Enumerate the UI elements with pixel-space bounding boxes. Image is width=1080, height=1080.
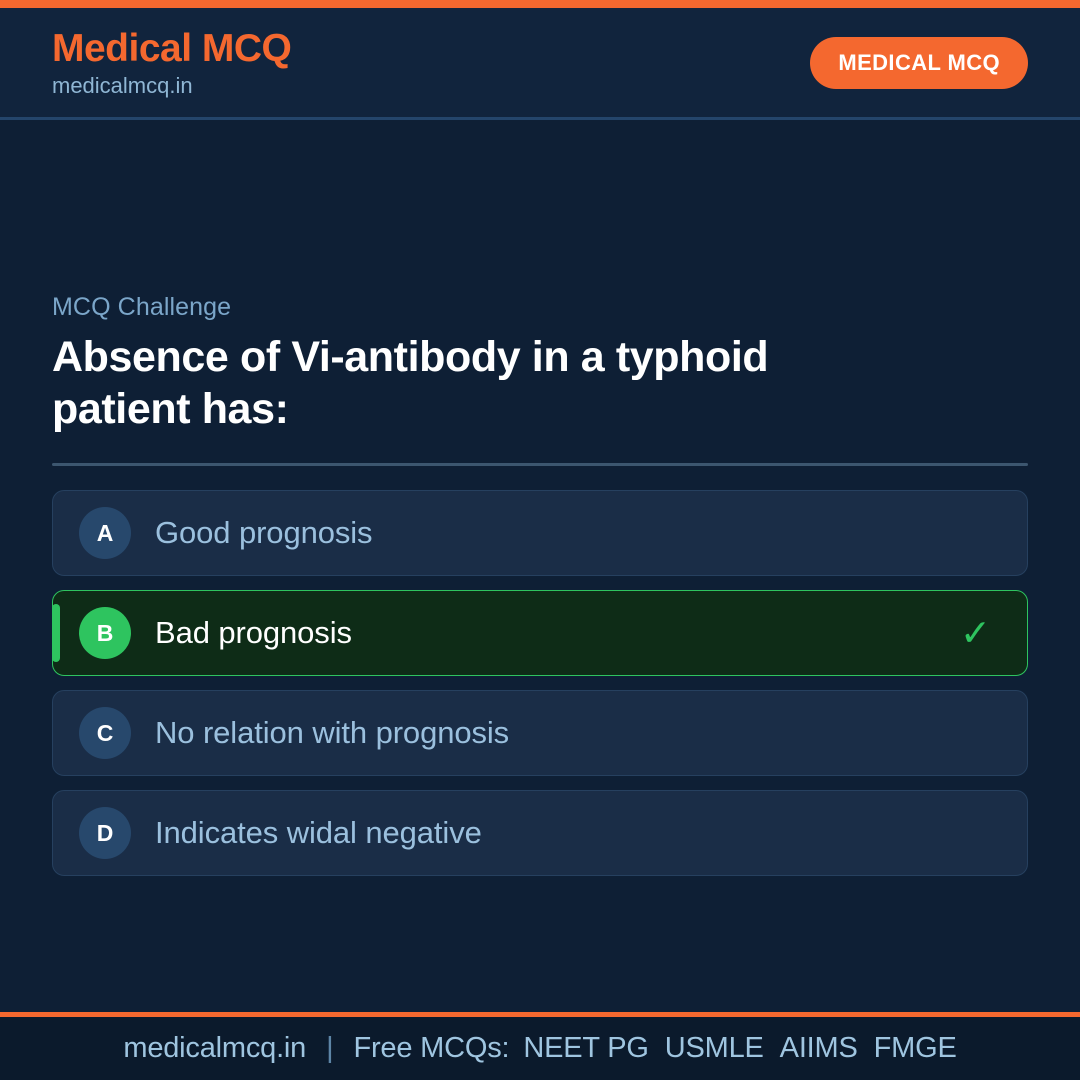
footer-site[interactable]: medicalmcq.in <box>123 1032 306 1065</box>
mcq-card: Medical MCQ medicalmcq.in MEDICAL MCQ MC… <box>0 0 1080 1080</box>
question-text: Absence of Vi-antibody in a typhoid pati… <box>52 332 882 435</box>
top-accent-rule <box>0 0 1080 8</box>
option-row-b[interactable]: B Bad prognosis ✓ <box>52 590 1028 676</box>
option-text-d: Indicates widal negative <box>155 815 482 851</box>
brand-block: Medical MCQ medicalmcq.in <box>52 29 291 97</box>
question-block: MCQ Challenge Absence of Vi-antibody in … <box>52 293 1028 876</box>
footer-separator: | <box>320 1032 339 1065</box>
option-row-c[interactable]: C No relation with prognosis <box>52 690 1028 776</box>
footer-exam-list: NEET PG USMLE AIIMS FMGE <box>523 1032 956 1065</box>
brand-subtitle: medicalmcq.in <box>52 75 291 97</box>
footer-bar: medicalmcq.in | Free MCQs: NEET PG USMLE… <box>0 1017 1080 1080</box>
option-row-a[interactable]: A Good prognosis <box>52 490 1028 576</box>
brand-title: Medical MCQ <box>52 29 291 68</box>
option-letter-c: C <box>79 707 131 759</box>
footer-exam-fmge[interactable]: FMGE <box>874 1032 957 1065</box>
option-row-d[interactable]: D Indicates widal negative <box>52 790 1028 876</box>
footer-free-label: Free MCQs: <box>353 1032 509 1065</box>
correct-check-icon: ✓ <box>960 615 991 652</box>
header-bar: Medical MCQ medicalmcq.in MEDICAL MCQ <box>0 8 1080 120</box>
main-content: MCQ Challenge Absence of Vi-antibody in … <box>0 120 1080 1012</box>
option-text-c: No relation with prognosis <box>155 715 509 751</box>
footer-exam-usmle[interactable]: USMLE <box>665 1032 764 1065</box>
correct-accent-bar <box>52 604 60 662</box>
option-letter-b: B <box>79 607 131 659</box>
options-list: A Good prognosis B Bad prognosis ✓ C No … <box>52 490 1028 876</box>
option-letter-d: D <box>79 807 131 859</box>
option-text-a: Good prognosis <box>155 515 372 551</box>
footer-exam-neetpg[interactable]: NEET PG <box>523 1032 648 1065</box>
header-badge[interactable]: MEDICAL MCQ <box>810 37 1028 89</box>
footer-exam-aiims[interactable]: AIIMS <box>780 1032 858 1065</box>
option-text-b: Bad prognosis <box>155 615 352 651</box>
question-divider <box>52 463 1028 466</box>
option-letter-a: A <box>79 507 131 559</box>
eyebrow-label: MCQ Challenge <box>52 293 1028 322</box>
